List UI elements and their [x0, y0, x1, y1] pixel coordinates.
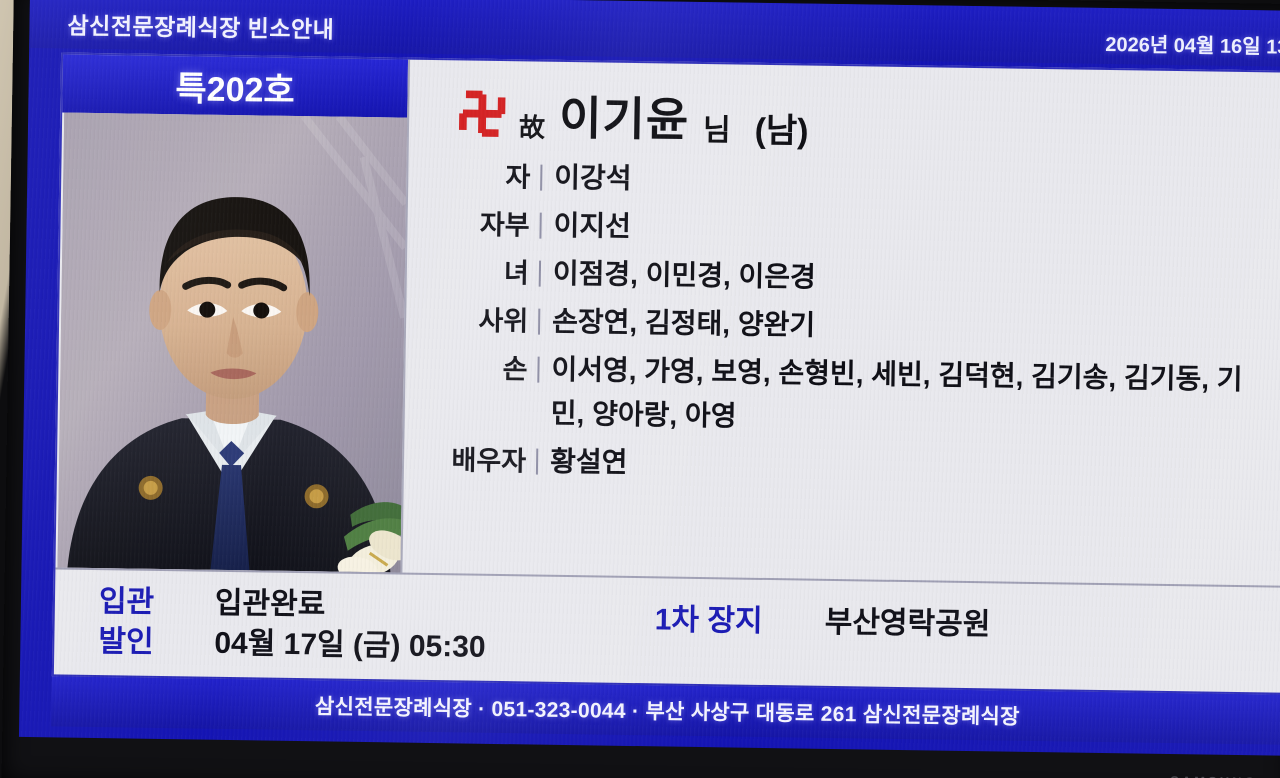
departure-label: 발인	[98, 622, 154, 663]
relative-value: 이점경, 이민경, 이은경	[541, 252, 1275, 307]
memorial-card: 특202호	[52, 52, 1280, 694]
schedule-labels: 입관 발인	[98, 582, 154, 663]
departure-value: 04월 17일 (금) 05:30	[214, 624, 486, 668]
relative-value: 이서영, 가영, 보영, 손형빈, 세빈, 김덕현, 김기송, 김기동, 기민,…	[538, 348, 1272, 447]
deceased-name: 이기윤	[559, 82, 690, 150]
samsung-brand-logo: SAMSUNG	[1170, 773, 1258, 778]
relative-row: 손 이서영, 가영, 보영, 손형빈, 세빈, 김덕현, 김기송, 김기동, 기…	[406, 346, 1272, 447]
deceased-gender: (남)	[754, 103, 809, 156]
encoffin-value: 입관완료	[215, 584, 487, 628]
deceased-name-row: 故 이기윤 님 (남)	[411, 76, 1277, 163]
relative-row: 녀 이점경, 이민경, 이은경	[409, 250, 1275, 307]
deceased-details: 故 이기윤 님 (남) 자 이강석 자부 이지선	[404, 60, 1280, 586]
relative-row: 자부 이지선	[409, 202, 1275, 259]
relative-row: 자 이강석	[410, 154, 1276, 211]
schedule-values: 입관완료 04월 17일 (금) 05:30	[214, 584, 486, 668]
burial-value: 부산영락공원	[824, 597, 990, 643]
tv-screen: 삼신전문장례식장 빈소안내 2026년 04월 16일 13 특202호	[19, 0, 1280, 756]
relative-label: 자	[410, 154, 541, 200]
schedule-section: 입관 발인 입관완료 04월 17일 (금) 05:30 1차 장지 부산영락공…	[54, 569, 1280, 690]
relative-label: 녀	[409, 250, 540, 296]
current-datetime: 2026년 04월 16일 13	[1105, 28, 1280, 60]
portrait-illustration	[57, 113, 407, 573]
deceased-prefix: 故	[519, 107, 546, 151]
facility-title: 삼신전문장례식장 빈소안내	[67, 7, 334, 45]
photographed-tv-scene: SAMSUNG 삼신전문장례식장 빈소안내 2026년 04월 16일 13 특…	[0, 0, 1280, 778]
relative-value: 이강석	[542, 156, 1276, 211]
encoffin-label: 입관	[99, 582, 155, 623]
relative-label: 자부	[409, 202, 540, 248]
deceased-honorific: 님	[703, 105, 731, 154]
relative-label: 사위	[408, 298, 539, 344]
facility-contact-text: 삼신전문장례식장 · 051-323-0044 · 부산 사상구 대동로 261…	[315, 690, 1020, 730]
relative-label: 손	[407, 346, 538, 392]
relative-value: 손장연, 김정태, 양완기	[540, 300, 1274, 355]
buddhist-swastika-icon	[459, 90, 506, 137]
room-number-label: 특202호	[62, 54, 408, 117]
deceased-portrait-photo	[57, 113, 407, 573]
burial-label: 1차 장지	[654, 594, 762, 640]
relative-value: 황설연	[538, 440, 1272, 495]
relative-row: 배우자 황설연	[406, 438, 1272, 495]
relative-row: 사위 손장연, 김정태, 양완기	[408, 298, 1274, 355]
relative-value: 이지선	[541, 204, 1275, 259]
room-number-banner: 특202호	[62, 54, 408, 117]
relative-label: 배우자	[406, 438, 537, 484]
